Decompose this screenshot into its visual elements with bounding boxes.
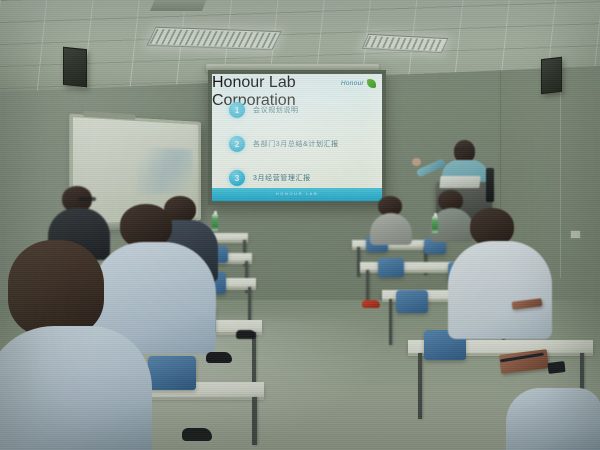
desk-leg <box>389 299 392 345</box>
shoe <box>206 352 232 363</box>
shoe <box>182 428 212 441</box>
ac-vent <box>150 0 207 12</box>
red-sneaker <box>362 300 380 308</box>
torso <box>0 326 152 450</box>
chair <box>396 290 428 313</box>
slide-bullet: 1 会议规划说明 <box>229 102 372 118</box>
slide-logo: Honour <box>341 79 376 88</box>
water-bottle <box>212 214 218 231</box>
bullet-number-badge: 2 <box>229 136 245 152</box>
chair <box>378 258 404 277</box>
laptop <box>439 176 480 188</box>
desk-leg <box>252 397 257 445</box>
projection-screen: Honour Honour Lab Corporation 1 会议规划说明 2… <box>208 70 386 205</box>
chair <box>148 356 196 390</box>
glasses-icon <box>78 197 96 201</box>
bullet-text: 各部门3月总结&计划汇报 <box>253 139 339 149</box>
light-louver <box>364 36 445 51</box>
torso <box>448 241 552 339</box>
speaker-icon-right <box>541 57 562 95</box>
slide-footer-band: HONOUR LAB <box>212 188 382 201</box>
bullet-number-badge: 1 <box>229 102 245 118</box>
bullet-text: 会议规划说明 <box>253 105 299 115</box>
slide-bullet: 2 各部门3月总结&计划汇报 <box>229 136 372 152</box>
logo-text: Honour <box>341 80 364 87</box>
slide-bullet-list: 1 会议规划说明 2 各部门3月总结&计划汇报 3 3月经营管理汇报 <box>229 102 372 186</box>
glasses-icon <box>454 147 475 151</box>
microphone-stand <box>486 168 494 202</box>
slide-footer-text: HONOUR LAB <box>276 191 318 196</box>
logo-mark-icon <box>367 79 376 88</box>
presenter-hand <box>412 158 421 166</box>
light-louver <box>149 29 278 48</box>
bullet-number-badge: 3 <box>229 170 245 186</box>
power-outlet <box>570 230 581 239</box>
shoe <box>236 330 256 339</box>
desk-r2 <box>360 262 460 270</box>
whiteboard-ghost-content <box>137 147 193 195</box>
water-bottle <box>432 216 438 233</box>
slide-bullet: 3 3月经营管理汇报 <box>229 170 372 186</box>
torso <box>506 388 600 450</box>
desk-leg <box>252 332 256 388</box>
head <box>8 240 104 336</box>
phone <box>547 361 565 374</box>
slide: Honour Honour Lab Corporation 1 会议规划说明 2… <box>212 74 382 201</box>
speaker-icon-left <box>63 47 87 88</box>
desk-leg <box>418 353 422 419</box>
bullet-text: 3月经营管理汇报 <box>253 173 311 183</box>
meeting-room-photo: Honour Honour Lab Corporation 1 会议规划说明 2… <box>0 0 600 450</box>
